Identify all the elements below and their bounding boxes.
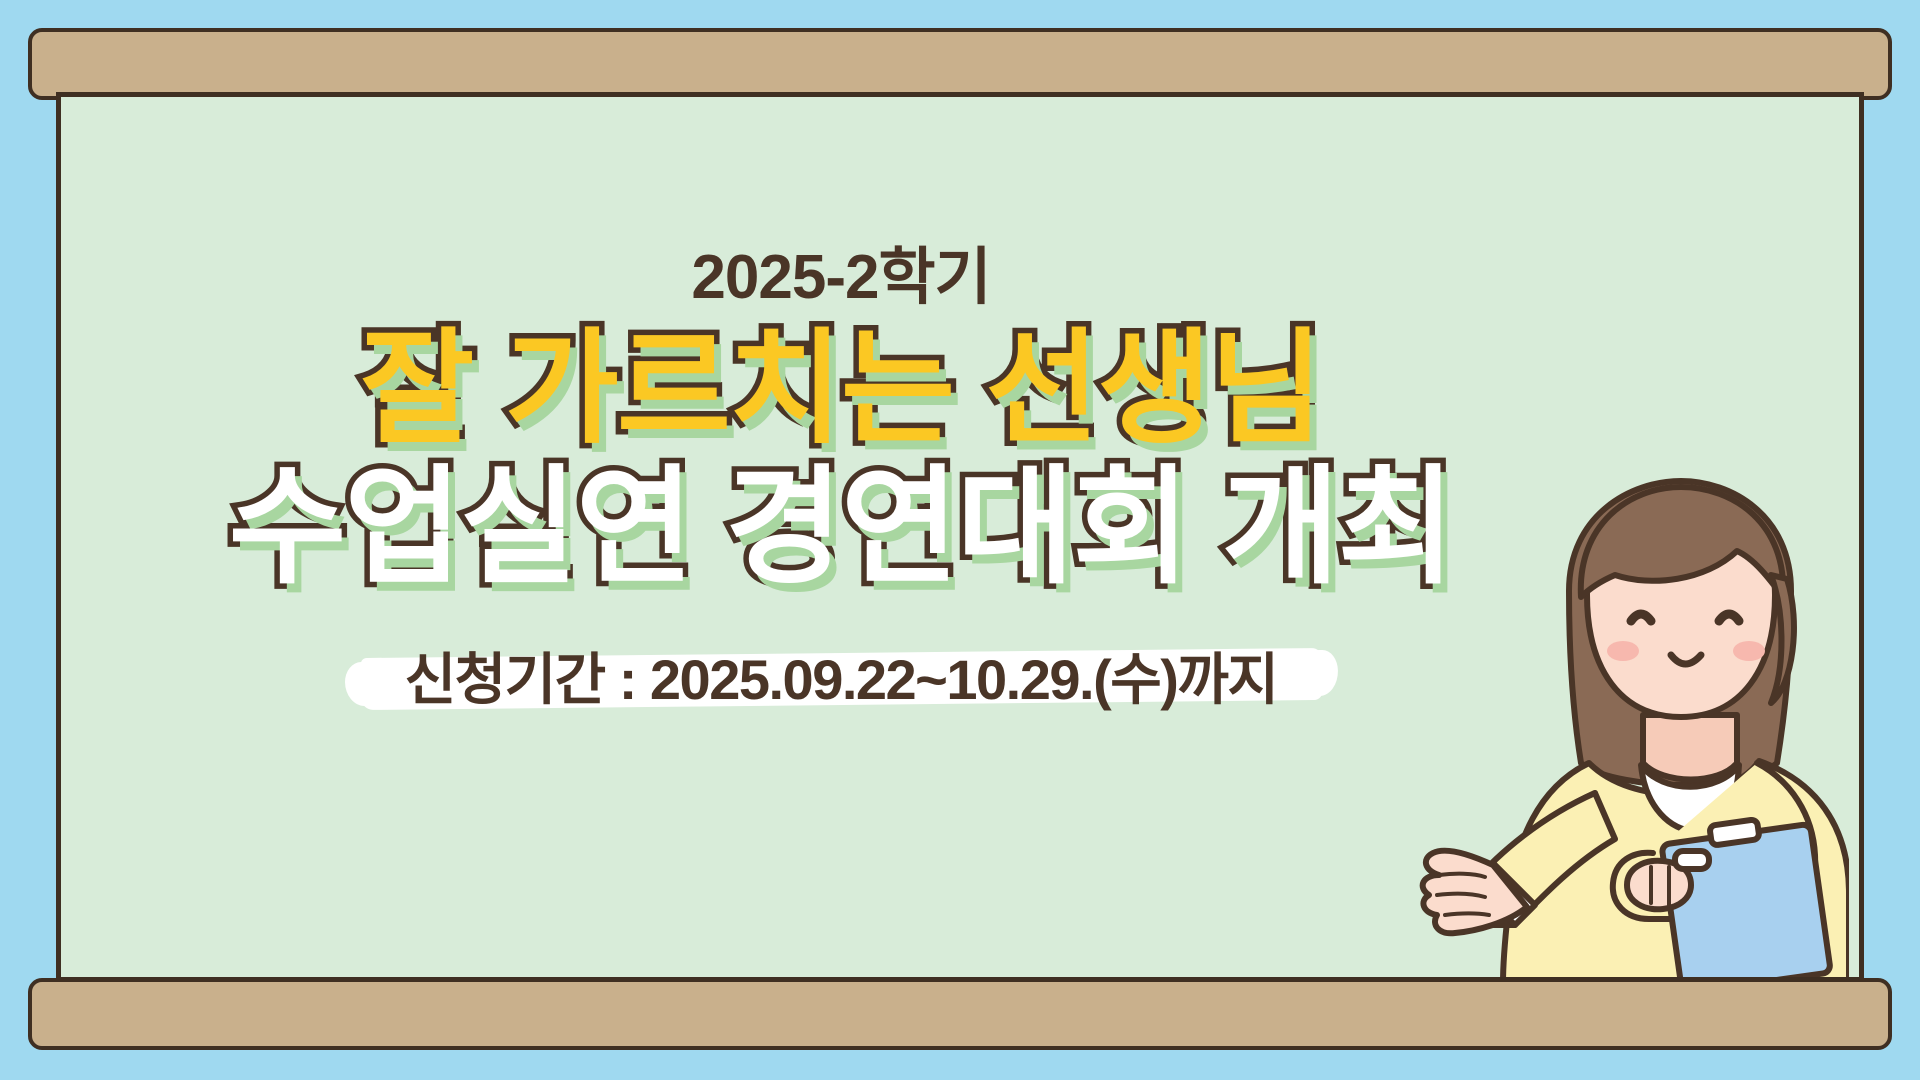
poster-text-block: 2025-2학기 잘 가르치는 선생님 수업실연 경연대회 개최 신청기간 : … — [61, 247, 1621, 722]
title-line-1: 잘 가르치는 선생님 — [61, 323, 1621, 457]
teacher-character-icon — [1419, 463, 1849, 982]
frame-bar-bottom — [28, 978, 1892, 1050]
title-line-2: 수업실연 경연대회 개최 — [61, 459, 1621, 597]
frame-bar-top — [28, 28, 1892, 100]
semester-label: 2025-2학기 — [61, 247, 1621, 309]
chalkboard: 2025-2학기 잘 가르치는 선생님 수업실연 경연대회 개최 신청기간 : … — [56, 92, 1864, 982]
chalkboard-surface: 2025-2학기 잘 가르치는 선생님 수업실연 경연대회 개최 신청기간 : … — [61, 97, 1859, 977]
period-highlight-wrap: 신청기간 : 2025.09.22~10.29.(수)까지 — [379, 633, 1304, 722]
application-period: 신청기간 : 2025.09.22~10.29.(수)까지 — [405, 635, 1278, 716]
poster-canvas: 2025-2학기 잘 가르치는 선생님 수업실연 경연대회 개최 신청기간 : … — [0, 0, 1920, 1080]
